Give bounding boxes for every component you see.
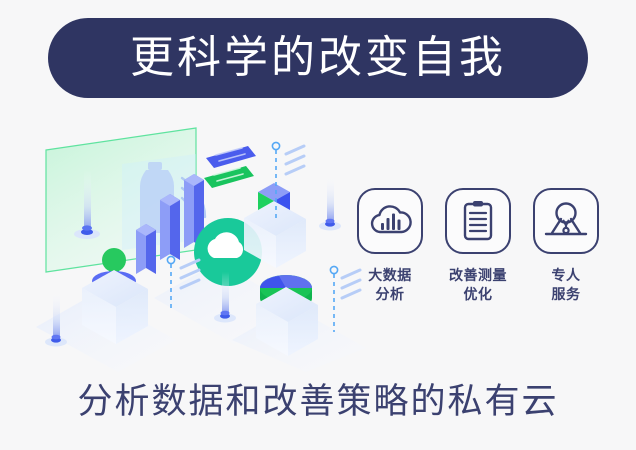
- feature-icon-box: [533, 188, 599, 254]
- clipboard-lines-icon: [459, 199, 497, 243]
- feature-label: 专人 服务: [552, 267, 581, 305]
- feature-icon-box: [445, 188, 511, 254]
- feature-label: 改善测量 优化: [449, 267, 507, 305]
- feature-item-service[interactable]: 专人 服务: [528, 188, 604, 305]
- isometric-illustration: [36, 122, 366, 372]
- feature-item-big-data[interactable]: 大数据 分析: [352, 188, 428, 305]
- light-beam: [84, 170, 91, 230]
- feature-label: 大数据 分析: [368, 267, 412, 305]
- feature-icon-box: [357, 188, 423, 254]
- service-person-icon: [543, 200, 589, 242]
- feature-list: 大数据 分析 改善测量 优化: [352, 188, 604, 305]
- cloud-bar-chart-icon: [368, 201, 412, 241]
- tagline: 分析数据和改善策略的私有云: [0, 382, 636, 422]
- blue-tag-card: [206, 146, 256, 168]
- green-tag-card: [204, 166, 254, 188]
- feature-item-measurement[interactable]: 改善测量 优化: [440, 188, 516, 305]
- green-glass-panel: [46, 128, 205, 272]
- page-title: 更科学的改变自我: [130, 36, 506, 80]
- poster-canvas: 更科学的改变自我: [0, 0, 636, 450]
- header-pill: 更科学的改变自我: [48, 18, 588, 98]
